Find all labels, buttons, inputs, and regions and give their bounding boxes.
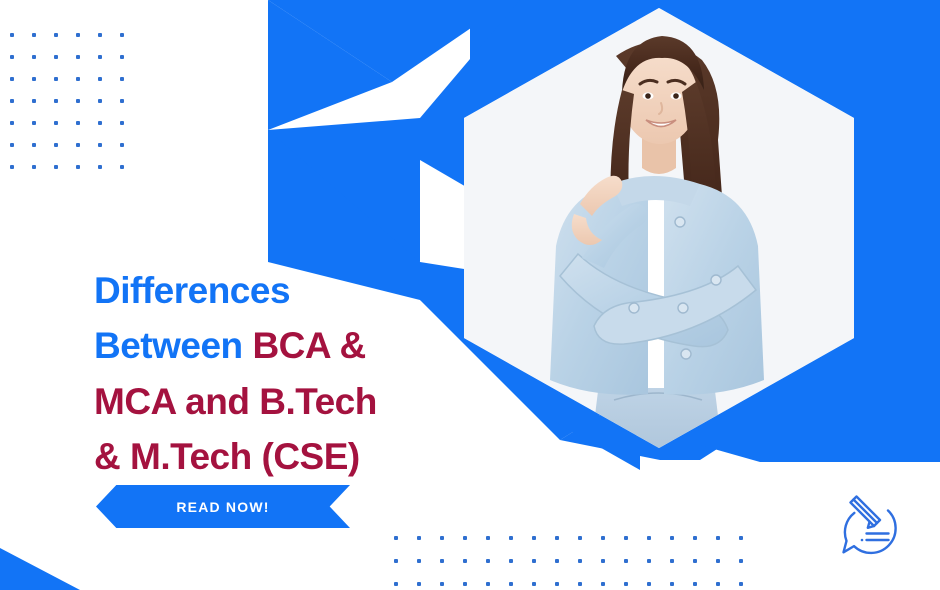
decorative-dot bbox=[394, 582, 398, 586]
decorative-dot bbox=[10, 33, 14, 37]
decorative-dot bbox=[76, 55, 80, 59]
decorative-dot bbox=[555, 582, 559, 586]
decorative-dot bbox=[716, 582, 720, 586]
decorative-dot bbox=[739, 582, 743, 586]
decorative-dot bbox=[716, 536, 720, 540]
title-line-4: & M.Tech (CSE) bbox=[94, 436, 360, 477]
bottom-right-band-lower-shape bbox=[700, 415, 940, 462]
decorative-dot bbox=[647, 559, 651, 563]
title-line-2-red: BCA & bbox=[252, 325, 365, 366]
decorative-dot bbox=[120, 77, 124, 81]
decorative-dot bbox=[417, 559, 421, 563]
bottom-left-triangle-shape bbox=[0, 548, 80, 590]
decorative-dot bbox=[98, 33, 102, 37]
decorative-dot bbox=[98, 77, 102, 81]
decorative-dot bbox=[647, 536, 651, 540]
decorative-dot bbox=[32, 55, 36, 59]
decorative-dot bbox=[54, 121, 58, 125]
decorative-dot bbox=[76, 33, 80, 37]
decorative-dot bbox=[601, 559, 605, 563]
blog-banner: Differences Between BCA & MCA and B.Tech… bbox=[0, 0, 940, 590]
decorative-dot bbox=[440, 582, 444, 586]
chat-bubble-pencil-icon bbox=[828, 492, 912, 570]
decorative-dot bbox=[76, 121, 80, 125]
decorative-dot bbox=[509, 559, 513, 563]
decorative-dot bbox=[693, 559, 697, 563]
decorative-dot-grid-top-left bbox=[0, 0, 140, 170]
decorative-dot-grid-bottom bbox=[380, 520, 760, 590]
title-line-2-blue: Between bbox=[94, 325, 252, 366]
read-now-button[interactable]: READ NOW! bbox=[96, 485, 350, 528]
decorative-dot bbox=[739, 536, 743, 540]
decorative-dot bbox=[120, 121, 124, 125]
decorative-dot bbox=[693, 536, 697, 540]
page-title: Differences Between BCA & MCA and B.Tech… bbox=[94, 263, 494, 485]
decorative-dot bbox=[98, 121, 102, 125]
decorative-dot bbox=[739, 559, 743, 563]
decorative-dot bbox=[120, 143, 124, 147]
decorative-dot bbox=[578, 536, 582, 540]
decorative-dot bbox=[394, 536, 398, 540]
decorative-dot bbox=[486, 559, 490, 563]
decorative-dot bbox=[76, 99, 80, 103]
decorative-dot bbox=[693, 582, 697, 586]
decorative-dot bbox=[394, 559, 398, 563]
decorative-dot bbox=[716, 559, 720, 563]
decorative-dot bbox=[120, 99, 124, 103]
decorative-dot bbox=[532, 582, 536, 586]
decorative-dot bbox=[120, 33, 124, 37]
decorative-dot bbox=[417, 536, 421, 540]
decorative-dot bbox=[555, 536, 559, 540]
decorative-dot bbox=[532, 559, 536, 563]
decorative-dot bbox=[98, 165, 102, 169]
decorative-dot bbox=[120, 55, 124, 59]
decorative-dot bbox=[440, 559, 444, 563]
title-line-3: MCA and B.Tech bbox=[94, 381, 377, 422]
decorative-dot bbox=[76, 143, 80, 147]
decorative-dot bbox=[32, 165, 36, 169]
decorative-dot bbox=[670, 582, 674, 586]
title-line-1: Differences bbox=[94, 270, 290, 311]
decorative-dot bbox=[417, 582, 421, 586]
decorative-dot bbox=[10, 143, 14, 147]
decorative-dot bbox=[440, 536, 444, 540]
person-illustration bbox=[464, 8, 854, 448]
decorative-dot bbox=[601, 582, 605, 586]
decorative-dot bbox=[54, 99, 58, 103]
decorative-dot bbox=[54, 143, 58, 147]
decorative-dot bbox=[670, 536, 674, 540]
decorative-dot bbox=[578, 582, 582, 586]
decorative-dot bbox=[10, 99, 14, 103]
decorative-dot bbox=[463, 582, 467, 586]
decorative-dot bbox=[76, 77, 80, 81]
mid-left-arrow-shape-2 bbox=[268, 190, 420, 262]
decorative-dot bbox=[486, 582, 490, 586]
decorative-dot bbox=[670, 559, 674, 563]
decorative-dot bbox=[54, 165, 58, 169]
decorative-dot bbox=[601, 536, 605, 540]
decorative-dot bbox=[10, 165, 14, 169]
decorative-dot bbox=[624, 536, 628, 540]
decorative-dot bbox=[647, 582, 651, 586]
decorative-dot bbox=[509, 582, 513, 586]
decorative-dot bbox=[10, 55, 14, 59]
decorative-dot bbox=[463, 536, 467, 540]
decorative-dot bbox=[32, 77, 36, 81]
decorative-dot bbox=[486, 536, 490, 540]
decorative-dot bbox=[54, 77, 58, 81]
decorative-dot bbox=[532, 536, 536, 540]
decorative-dot bbox=[32, 121, 36, 125]
decorative-dot bbox=[98, 143, 102, 147]
decorative-dot bbox=[10, 77, 14, 81]
decorative-dot bbox=[120, 165, 124, 169]
decorative-dot bbox=[98, 55, 102, 59]
decorative-dot bbox=[54, 33, 58, 37]
decorative-dot bbox=[624, 582, 628, 586]
decorative-dot bbox=[578, 559, 582, 563]
top-left-chevron-shape-2 bbox=[268, 0, 392, 130]
decorative-dot bbox=[624, 559, 628, 563]
top-left-chevron-shape bbox=[268, 0, 512, 82]
decorative-dot bbox=[509, 536, 513, 540]
mid-left-arrow-shape bbox=[268, 118, 420, 262]
decorative-dot bbox=[32, 99, 36, 103]
decorative-dot bbox=[32, 33, 36, 37]
decorative-dot bbox=[76, 165, 80, 169]
decorative-dot bbox=[54, 55, 58, 59]
decorative-dot bbox=[98, 99, 102, 103]
hero-photo-hexagon bbox=[464, 8, 854, 448]
decorative-dot bbox=[32, 143, 36, 147]
decorative-dot bbox=[463, 559, 467, 563]
decorative-dot bbox=[10, 121, 14, 125]
decorative-dot bbox=[555, 559, 559, 563]
